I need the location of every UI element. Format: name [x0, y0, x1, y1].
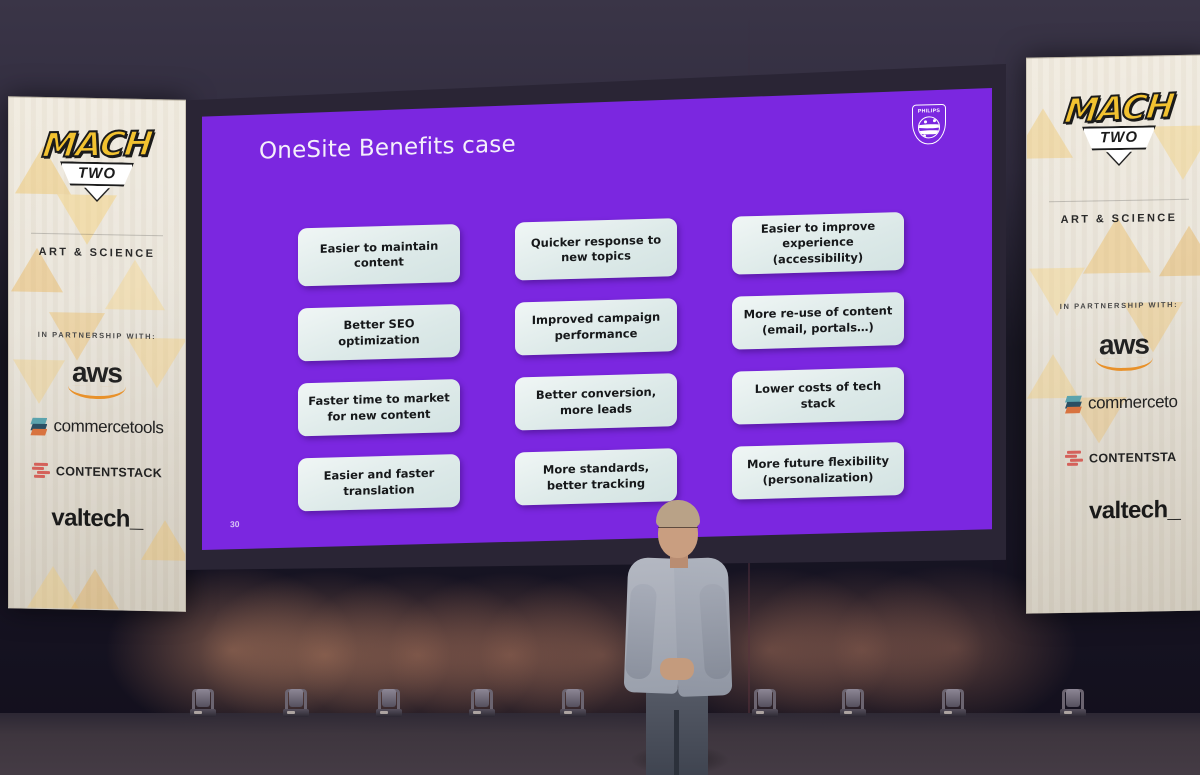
philips-orb-icon [918, 116, 940, 139]
mach-logo-tail [1106, 150, 1132, 164]
contentstack-icon [32, 462, 50, 479]
mach-wordmark: MACH [40, 124, 154, 166]
commercetools-icon [1065, 395, 1082, 412]
triangle-decoration [71, 569, 119, 610]
commercetools-wordmark: commercetools [53, 416, 163, 438]
commercetools-icon [30, 417, 47, 434]
benefit-chip[interactable]: Improved campaign performance [515, 298, 677, 355]
presenter-trousers [646, 688, 708, 775]
mach-two-badge: TWO [60, 161, 134, 186]
aws-wordmark: aws [9, 355, 185, 390]
mach-two-logo: MACH TWO [9, 123, 185, 201]
triangle-decoration [105, 259, 165, 310]
presenter-hands [660, 658, 694, 680]
stage-light-fixture [283, 683, 309, 717]
presenter [612, 500, 742, 775]
benefit-chip[interactable]: More future flexibility (personalization… [732, 442, 904, 500]
benefit-chip[interactable]: Easier to improve experience (accessibil… [732, 212, 904, 275]
stage-light-fixture [560, 683, 586, 717]
valtech-wordmark: valtech_ [51, 504, 142, 533]
stage-background: MACH TWO ART & SCIENCE IN PARTNERSHIP WI… [0, 0, 1200, 775]
contentstack-icon [1065, 450, 1083, 467]
benefit-chip[interactable]: Faster time to market for new content [298, 379, 460, 436]
mach-wordmark: MACH [1062, 86, 1176, 132]
benefit-chip[interactable]: Quicker response to new topics [515, 218, 677, 281]
benefit-chip[interactable]: Better conversion, more leads [515, 373, 677, 430]
contentstack-wordmark: CONTENTSTA [1089, 449, 1177, 465]
banner-tagline: ART & SCIENCE [1027, 211, 1200, 226]
philips-logo: PHILIPS [912, 104, 946, 145]
benefits-grid: Easier to maintain content Quicker respo… [298, 212, 904, 512]
valtech-wordmark: valtech_ [1089, 496, 1180, 525]
sponsor-logo-commercetools: commerceto [1065, 391, 1200, 414]
aws-wordmark: aws [1037, 327, 1200, 362]
philips-wordmark: PHILIPS [918, 108, 940, 115]
stage-light-fixture [190, 683, 216, 717]
mach-two-logo: MACH TWO [1027, 87, 1200, 165]
divider [1049, 199, 1189, 202]
commercetools-wordmark: commerceto [1088, 392, 1178, 414]
sponsor-banner-left: MACH TWO ART & SCIENCE IN PARTNERSHIP WI… [8, 96, 186, 611]
stage-light-fixture [840, 683, 866, 717]
sponsor-logo-valtech: valtech_ [1089, 495, 1200, 526]
banner-tagline-block: ART & SCIENCE [9, 225, 185, 260]
projection-screen: OneSite Benefits case PHILIPS [186, 64, 1006, 570]
benefit-chip[interactable]: More standards, better tracking [515, 448, 677, 505]
sponsor-logo-commercetools: commercetools [9, 415, 185, 438]
sponsor-logo-aws: aws [1037, 327, 1200, 372]
sponsor-logo-contentstack: CONTENTSTACK [9, 461, 185, 481]
sponsor-logo-valtech: valtech_ [9, 503, 185, 534]
stage-light-fixture [376, 683, 402, 717]
slide-page-number: 30 [230, 519, 239, 529]
benefit-chip[interactable]: More re-use of content (email, portals…) [732, 292, 904, 350]
mach-two-badge: TWO [1082, 125, 1156, 150]
benefit-chip[interactable]: Better SEO optimization [298, 304, 460, 361]
mach-logo-tail [84, 186, 110, 200]
slide-content: OneSite Benefits case PHILIPS [202, 88, 992, 550]
philips-shield-icon: PHILIPS [912, 104, 946, 145]
benefit-chip[interactable]: Lower costs of tech stack [732, 367, 904, 425]
stage-light-fixture [940, 683, 966, 717]
sponsor-logo-aws: aws [9, 355, 185, 400]
presentation-slide: OneSite Benefits case PHILIPS [202, 88, 992, 550]
sponsor-logo-contentstack: CONTENTSTA [1065, 447, 1200, 467]
divider [31, 233, 163, 237]
stage-light-fixture [752, 683, 778, 717]
benefit-chip[interactable]: Easier to maintain content [298, 224, 460, 287]
partnership-label: IN PARTNERSHIP WITH: [9, 329, 185, 341]
triangle-decoration [1159, 225, 1200, 276]
banner-tagline-block: ART & SCIENCE [1027, 191, 1200, 226]
stage-light-fixture [469, 683, 495, 717]
contentstack-wordmark: CONTENTSTACK [56, 464, 162, 480]
presenter-hair [656, 500, 700, 527]
stage-light-fixture [1060, 683, 1086, 717]
slide-title: OneSite Benefits case [259, 132, 516, 165]
stage-floor [0, 713, 1200, 775]
benefit-chip[interactable]: Easier and faster translation [298, 454, 460, 511]
presenter-glasses [658, 527, 698, 535]
sponsor-banner-right: MACH TWO ART & SCIENCE IN PARTNERSHIP WI… [1026, 54, 1200, 613]
